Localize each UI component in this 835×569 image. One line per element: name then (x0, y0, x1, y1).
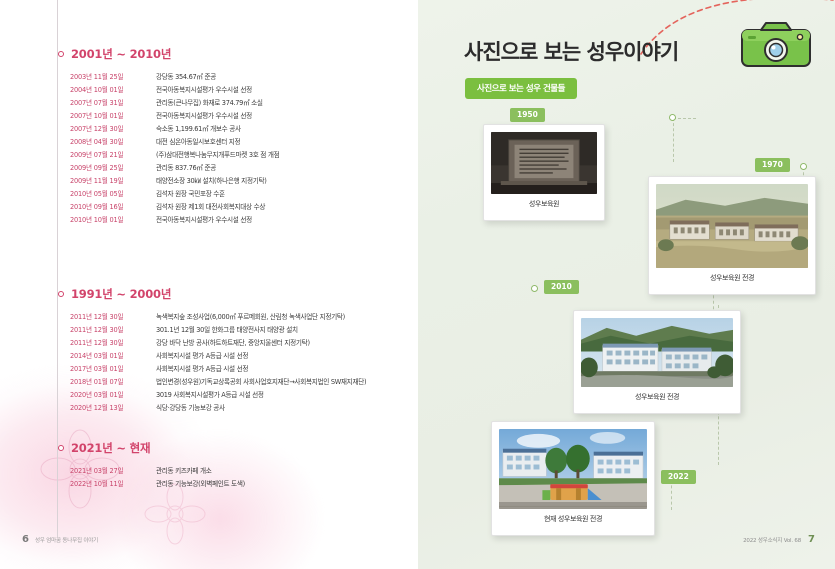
timeline-row: 2007년 12월 30일숙소동 1,199.61㎡ 개보수 공사 (70, 123, 279, 133)
row-date: 2020년 12월 13일 (70, 402, 156, 412)
row-desc: 사회복지시설 평가 A등급 시설 선정 (156, 350, 248, 360)
row-date: 2003년 11월 25일 (70, 71, 156, 81)
timeline-rows: 2003년 11월 25일강당동 354.67㎡ 준공 2004년 10월 01… (70, 71, 279, 224)
timeline-row: 2009년 11월 19일태양전소장 30㎾ 설치(하나은행 지정기탁) (70, 175, 279, 185)
section-2001-2010: 2001년 ~ 2010년 2003년 11월 25일강당동 354.67㎡ 준… (70, 46, 279, 227)
row-desc: 관리동(큰나무집) 화재로 374.79㎡ 소실 (156, 97, 263, 107)
timeline-row: 2007년 10월 01일전국아동복지시설평가 우수시설 선정 (70, 110, 279, 120)
year-tag-2010: 2010 (544, 280, 579, 294)
timeline-row: 2011년 12월 30일녹색복지숲 조성사업(6,000㎡ 푸르메회원, 산림… (70, 311, 366, 321)
row-desc: 전국아동복지시설평가 우수시설 선정 (156, 110, 252, 120)
photo-caption: 성우보육원 전경 (581, 387, 733, 407)
page-title: 사진으로 보는 성우이야기 (464, 36, 678, 66)
row-date: 2011년 12월 30일 (70, 337, 156, 347)
timeline-row: 2022년 10월 11일관리동 기능보강(외벽페인트 도색) (70, 478, 245, 488)
timeline-row: 2009년 07월 21일(주)삼대전행복나눔무지개푸드마켓 3호 점 개점 (70, 149, 279, 159)
timeline-rows: 2021년 03월 27일관리동 키즈카페 개소 2022년 10월 11일관리… (70, 465, 245, 488)
row-date: 2017년 03월 01일 (70, 363, 156, 373)
row-date: 2008년 04월 30일 (70, 136, 156, 146)
row-date: 2022년 10월 11일 (70, 478, 156, 488)
timeline-row: 2020년 03월 01일3019 사회복지시설평가 A등급 시설 선정 (70, 389, 366, 399)
section-header: 1991년 ~ 2000년 (70, 286, 366, 302)
row-desc: (주)삼대전행복나눔무지개푸드마켓 3호 점 개점 (156, 149, 279, 159)
footer-caption: 성우 엄마꿈 동나무집 이야기 (35, 536, 98, 546)
photo-caption: 성우보육원 (491, 194, 597, 214)
year-tag-2022: 2022 (661, 470, 696, 484)
row-desc: 강당 바닥 난방 공사(하트하트재단, 중앙지울센터 지정기탁) (156, 337, 310, 347)
year-tag-1970: 1970 (755, 158, 790, 172)
camera-icon (739, 18, 813, 70)
timeline-row: 2010년 09월 16일김석자 원장 제1회 대전사회복지대상 수상 (70, 201, 279, 211)
row-date: 2007년 10월 01일 (70, 110, 156, 120)
row-desc: 녹색복지숲 조성사업(6,000㎡ 푸르메회원, 산림청 녹색사업단 지정기탁) (156, 311, 345, 321)
timeline-connector (671, 480, 672, 510)
row-date: 2009년 09월 25일 (70, 162, 156, 172)
photo-card-1950[interactable]: 성우보육원 (483, 124, 605, 221)
photo-caption: 현재 성우보육원 전경 (499, 509, 647, 529)
section-header: 2001년 ~ 2010년 (70, 46, 279, 62)
row-desc: 숙소동 1,199.61㎡ 개보수 공사 (156, 123, 241, 133)
page-number: 6 (22, 534, 29, 545)
row-desc: 김석자 원장 제1회 대전사회복지대상 수상 (156, 201, 265, 211)
row-date: 2014년 03월 01일 (70, 350, 156, 360)
row-desc: 사회복지시설 평가 A등급 시설 선정 (156, 363, 248, 373)
section-title: 2021년 ~ 현재 (71, 440, 150, 456)
section-2021-present: 2021년 ~ 현재 2021년 03월 27일관리동 키즈카페 개소 2022… (70, 440, 245, 491)
timeline-row: 2010년 10월 01일전국아동복지시설평가 우수시설 선정 (70, 214, 279, 224)
section-tag-badge: 사진으로 보는 성우 건물들 (465, 78, 577, 99)
row-desc: 대전 심온아동일시보호센터 지정 (156, 136, 240, 146)
photo-card-2010[interactable]: 성우보육원 전경 (573, 310, 741, 414)
row-date: 2020년 03월 01일 (70, 389, 156, 399)
timeline-row: 2007년 07월 31일관리동(큰나무집) 화재로 374.79㎡ 소실 (70, 97, 279, 107)
timeline-row: 2014년 03월 01일사회복지시설 평가 A등급 시설 선정 (70, 350, 366, 360)
row-date: 2007년 07월 31일 (70, 97, 156, 107)
timeline-dot (531, 285, 538, 292)
timeline-row: 2011년 12월 30일301.1년 12월 30일 한화그룹 태양전사지 태… (70, 324, 366, 334)
timeline-row: 2004년 10월 01일전국아동복지시설평가 우수시설 선정 (70, 84, 279, 94)
row-desc: 전국아동복지시설평가 우수시설 선정 (156, 84, 252, 94)
photo-1950 (491, 132, 597, 194)
row-desc: 식당·강당동 기능보강 공사 (156, 402, 225, 412)
row-date: 2011년 12월 30일 (70, 311, 156, 321)
section-1991-2000: 1991년 ~ 2000년 2011년 12월 30일녹색복지숲 조성사업(6,… (70, 286, 366, 415)
row-desc: 김석자 원장 국민포장 수훈 (156, 188, 225, 198)
section-title: 2001년 ~ 2010년 (71, 46, 171, 62)
left-page-footer: 6 성우 엄마꿈 동나무집 이야기 (22, 534, 98, 545)
bullet-circle-icon (58, 291, 64, 297)
timeline-row: 2021년 03월 27일관리동 키즈카페 개소 (70, 465, 245, 475)
timeline-row: 2010년 05월 05일김석자 원장 국민포장 수훈 (70, 188, 279, 198)
row-date: 2010년 10월 01일 (70, 214, 156, 224)
row-desc: 법인변경(성우원)기독교상록공회 사회사업호지재단→사회복지법인 SW재지재단) (156, 376, 366, 386)
photo-1970 (656, 184, 808, 268)
vertical-divider-rule (57, 0, 58, 537)
right-page-footer: 2022 성우소식지 Vol. 68 7 (743, 534, 815, 545)
timeline-row: 2008년 04월 30일대전 심온아동일시보호센터 지정 (70, 136, 279, 146)
row-date: 2009년 11월 19일 (70, 175, 156, 185)
timeline-connector (673, 118, 696, 119)
timeline-rows: 2011년 12월 30일녹색복지숲 조성사업(6,000㎡ 푸르메회원, 산림… (70, 311, 366, 412)
row-date: 2009년 07월 21일 (70, 149, 156, 159)
timeline-row: 2009년 09월 25일관리동 837.76㎡ 준공 (70, 162, 279, 172)
timeline-row: 2020년 12월 13일식당·강당동 기능보강 공사 (70, 402, 366, 412)
timeline-dot (669, 114, 676, 121)
section-title: 1991년 ~ 2000년 (71, 286, 171, 302)
row-date: 2011년 12월 30일 (70, 324, 156, 334)
photo-2022 (499, 429, 647, 509)
right-page: 사진으로 보는 성우이야기 사진으로 보는 성우 건물들 1950 1970 2… (418, 0, 835, 569)
page-number: 7 (808, 534, 815, 545)
timeline-row: 2018년 01월 07일법인변경(성우원)기독교상록공회 사회사업호지재단→사… (70, 376, 366, 386)
row-date: 2004년 10월 01일 (70, 84, 156, 94)
year-tag-1950: 1950 (510, 108, 545, 122)
row-desc: 3019 사회복지시설평가 A등급 시설 선정 (156, 389, 264, 399)
row-date: 2010년 05월 05일 (70, 188, 156, 198)
row-desc: 301.1년 12월 30일 한화그룹 태양전사지 태양광 설치 (156, 324, 298, 334)
row-desc: 태양전소장 30㎾ 설치(하나은행 지정기탁) (156, 175, 267, 185)
row-desc: 관리동 837.76㎡ 준공 (156, 162, 216, 172)
row-date: 2007년 12월 30일 (70, 123, 156, 133)
photo-card-1970[interactable]: 성우보육원 전경 (648, 176, 816, 295)
photo-card-2022[interactable]: 현재 성우보육원 전경 (491, 421, 655, 536)
row-desc: 전국아동복지시설평가 우수시설 선정 (156, 214, 252, 224)
bullet-circle-icon (58, 51, 64, 57)
timeline-row: 2003년 11월 25일강당동 354.67㎡ 준공 (70, 71, 279, 81)
timeline-dot (800, 163, 807, 170)
footer-caption: 2022 성우소식지 Vol. 68 (743, 536, 801, 546)
row-date: 2018년 01월 07일 (70, 376, 156, 386)
row-desc: 관리동 기능보강(외벽페인트 도색) (156, 478, 245, 488)
section-header: 2021년 ~ 현재 (70, 440, 245, 456)
photo-2010 (581, 318, 733, 387)
row-desc: 관리동 키즈카페 개소 (156, 465, 212, 475)
row-desc: 강당동 354.67㎡ 준공 (156, 71, 216, 81)
left-page: 2001년 ~ 2010년 2003년 11월 25일강당동 354.67㎡ 준… (0, 0, 418, 569)
bullet-circle-icon (58, 445, 64, 451)
row-date: 2010년 09월 16일 (70, 201, 156, 211)
timeline-connector (673, 118, 674, 162)
timeline-row: 2011년 12월 30일강당 바닥 난방 공사(하트하트재단, 중앙지울센터 … (70, 337, 366, 347)
timeline-row: 2017년 03월 01일사회복지시설 평가 A등급 시설 선정 (70, 363, 366, 373)
photo-caption: 성우보육원 전경 (656, 268, 808, 288)
row-date: 2021년 03월 27일 (70, 465, 156, 475)
